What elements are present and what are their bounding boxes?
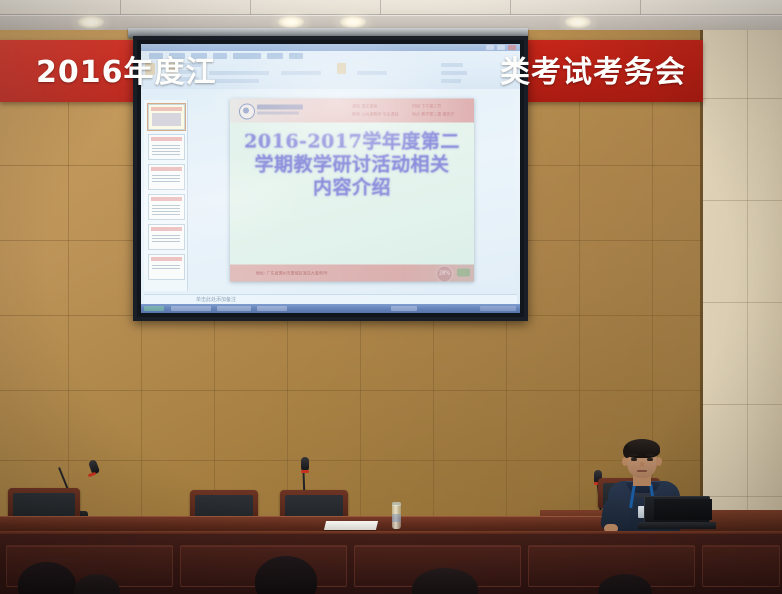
slide-editing-area[interactable]: 课程 语文课程 教师 公共课教研 专业课程 时间 下午第三节 地点 教学楼三楼 …	[189, 94, 515, 285]
meeting-room-photo: 2016年度江 类考试考务会	[0, 0, 782, 594]
laptop-lid	[644, 496, 710, 523]
university-name-pinyin-mark	[257, 111, 299, 114]
banner-text-left: 2016年度江	[36, 47, 217, 91]
ceiling-panel-band	[0, 0, 782, 15]
wall-corner-edge	[700, 30, 703, 540]
presenter-mouth	[637, 470, 647, 472]
slide-header-bar: 课程 语文课程 教师 公共课教研 专业课程 时间 下午第三节 地点 教学楼三楼 …	[230, 98, 474, 122]
presenter-eyebrow	[630, 454, 638, 456]
slide-title-line-3: 内容介绍	[238, 176, 466, 199]
presenter-nose	[640, 462, 644, 467]
slide-footer-bar: 地址: 广东省惠州市惠城区演达大道46号 28%	[230, 264, 474, 281]
presenter-eye	[647, 458, 653, 461]
podium-panel	[702, 545, 780, 587]
slide-title: 2016-2017学年度第二 学期教学研讨活动相关 内容介绍	[238, 130, 466, 199]
progress-badge: 28%	[436, 265, 453, 281]
notes-placeholder[interactable]: 单击此处添加备注	[196, 296, 236, 303]
slide-thumbnail[interactable]	[148, 104, 185, 130]
right-wall	[703, 30, 782, 540]
slide-thumbnail[interactable]	[148, 254, 185, 280]
documents-on-table	[324, 521, 378, 530]
presenter-eye	[631, 458, 637, 461]
slide-thumbnail[interactable]	[148, 164, 185, 190]
slide-header-meta-2: 教师 公共课教研 专业课程	[352, 111, 399, 117]
presenter-ear	[656, 457, 662, 466]
slide-thumbnail[interactable]	[148, 194, 185, 220]
recessed-downlight	[278, 16, 304, 28]
banner-text-right: 类考试考务会	[500, 47, 686, 91]
windows-taskbar[interactable]	[141, 304, 520, 313]
slide-header-meta-1: 课程 语文课程	[352, 103, 377, 109]
slide-thumbnail-panel[interactable]	[144, 100, 188, 291]
recessed-downlight	[340, 16, 366, 28]
ceiling	[0, 0, 782, 30]
university-name-mark	[257, 104, 303, 109]
presenter-ear	[622, 457, 628, 466]
recessed-downlight	[565, 16, 591, 28]
slide-thumbnail[interactable]	[148, 224, 185, 250]
laptop-screen	[654, 499, 712, 520]
slide-footer-text: 地址: 广东省惠州市惠城区演达大道46号	[256, 270, 328, 276]
status-chip	[457, 268, 470, 276]
recessed-downlight	[78, 16, 104, 28]
powerpoint-statusbar: 单击此处添加备注	[144, 294, 517, 304]
slide-title-line-1: 2016-2017学年度第二	[238, 130, 466, 153]
slide-title-line-2: 学期教学研讨活动相关	[238, 153, 466, 176]
slide-header-meta-3: 时间 下午第三节	[412, 103, 441, 109]
slide-header-meta-4: 地点 教学楼三楼 报告厅	[412, 111, 455, 117]
podium-top-rail	[0, 531, 782, 534]
laptop	[638, 496, 716, 530]
current-slide[interactable]: 课程 语文课程 教师 公共课教研 专业课程 时间 下午第三节 地点 教学楼三楼 …	[230, 98, 474, 281]
laptop-keyboard-base	[638, 522, 716, 529]
water-bottle-label	[392, 514, 401, 522]
university-logo-icon	[239, 103, 255, 119]
presenter-eyebrow	[646, 454, 654, 456]
slide-thumbnail[interactable]	[148, 134, 185, 160]
